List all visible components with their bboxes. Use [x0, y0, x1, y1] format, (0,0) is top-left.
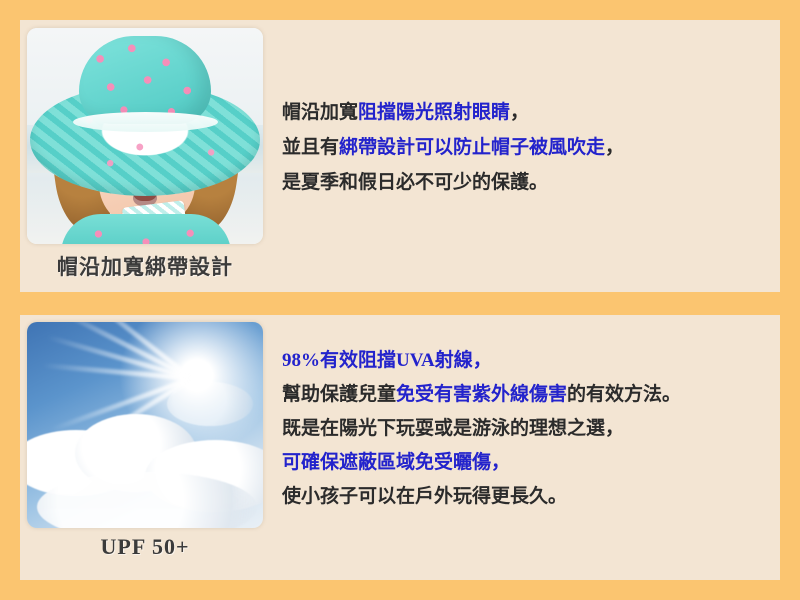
copy-line: 是夏季和假日必不可少的保護。 — [282, 165, 624, 200]
feature-copy-wide-brim: 帽沿加寬阻擋陽光照射眼睛， 並且有綁帶設計可以防止帽子被風吹走， 是夏季和假日必… — [282, 95, 624, 200]
feature-copy-upf: 98%有效阻擋UVA射線， 幫助保護兒童免受有害紫外線傷害的有效方法。 既是在陽… — [282, 344, 681, 514]
feature-panel-upf: UPF 50+ 98%有效阻擋UVA射線， 幫助保護兒童免受有害紫外線傷害的有效… — [20, 315, 780, 580]
copy-segment: ， — [605, 137, 624, 158]
copy-line: 使小孩子可以在戶外玩得更長久。 — [282, 480, 681, 514]
product-photo-sunny-sky — [27, 322, 263, 528]
copy-segment: 帽沿加寬 — [282, 102, 358, 123]
child-swim-top — [61, 214, 231, 244]
copy-segment: 既是在陽光下玩耍或是游泳的理想之選， — [282, 418, 624, 439]
copy-segment-highlight: 可確保遮蔽區域免受曬傷， — [282, 452, 510, 473]
copy-line: 98%有效阻擋UVA射線， — [282, 344, 681, 378]
copy-segment: 幫助保護兒童 — [282, 384, 396, 405]
copy-line: 帽沿加寬阻擋陽光照射眼睛， — [282, 95, 624, 130]
copy-line: 可確保遮蔽區域免受曬傷， — [282, 446, 681, 480]
photo-caption-upf-rating: UPF 50+ — [27, 534, 263, 560]
copy-segment-highlight: 免受有害紫外線傷害 — [396, 384, 567, 405]
photo-caption-wide-brim: 帽沿加寬綁帶設計 — [27, 251, 263, 281]
copy-segment: 的有效方法。 — [567, 384, 681, 405]
hat-crown — [79, 36, 211, 124]
panel-divider — [0, 295, 800, 312]
copy-line: 幫助保護兒童免受有害紫外線傷害的有效方法。 — [282, 378, 681, 412]
copy-segment-highlight: 98%有效阻擋UVA射線， — [282, 350, 492, 371]
cloud — [167, 382, 253, 426]
product-photo-toddler-flamingo-hat — [27, 28, 263, 244]
copy-segment: ， — [510, 102, 529, 123]
copy-line: 並且有綁帶設計可以防止帽子被風吹走， — [282, 130, 624, 165]
copy-segment-highlight: 阻擋陽光照射眼睛 — [358, 102, 510, 123]
feature-panel-wide-brim: 帽沿加寬綁帶設計 帽沿加寬阻擋陽光照射眼睛， 並且有綁帶設計可以防止帽子被風吹走… — [20, 20, 780, 292]
copy-segment-highlight: 綁帶設計可以防止帽子被風吹走 — [339, 137, 605, 158]
product-feature-page: 帽沿加寬綁帶設計 帽沿加寬阻擋陽光照射眼睛， 並且有綁帶設計可以防止帽子被風吹走… — [0, 0, 800, 600]
hat-band — [73, 112, 218, 132]
copy-segment: 是夏季和假日必不可少的保護。 — [282, 172, 548, 193]
copy-line: 既是在陽光下玩耍或是游泳的理想之選， — [282, 412, 681, 446]
copy-segment: 使小孩子可以在戶外玩得更長久。 — [282, 486, 567, 507]
copy-segment: 並且有 — [282, 137, 339, 158]
